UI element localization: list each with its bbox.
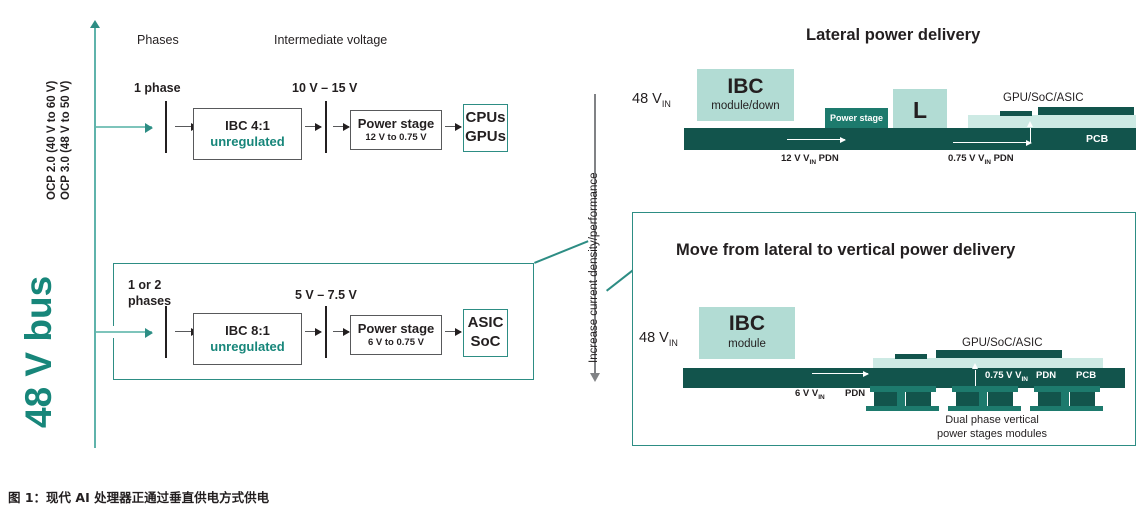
vertical-pdn-arrow-left: [812, 373, 868, 374]
vertical-pdn-left-label: 6 V VIN: [795, 389, 825, 401]
vertical-pdn-left-v: 6 V V: [795, 388, 818, 399]
vertical-pcb-bar: [683, 368, 1125, 388]
row1-phase-label: 1 phase: [134, 81, 181, 95]
row2-power-stage-box[interactable]: Power stage 6 V to 0.75 V: [350, 315, 442, 355]
lateral-pdn-left-tail: PDN: [816, 153, 839, 164]
lateral-ibc-title: IBC: [697, 76, 794, 97]
vertical-vin-sub: IN: [669, 338, 678, 348]
row1-power-stage-sub: 12 V to 0.75 V: [365, 132, 426, 144]
vertical-pdn-left-sub: IN: [818, 394, 825, 401]
vertical-modules-caption-line1: Dual phase vertical: [922, 414, 1062, 428]
vertical-modules-caption-line2: power stages modules: [922, 428, 1062, 442]
header-intermediate-voltage: Intermediate voltage: [274, 33, 387, 47]
vertical-ibc-sub: module: [699, 339, 795, 351]
vertical-vin-label: 48 VIN: [639, 330, 678, 348]
bus-label: 48 V bus: [18, 276, 61, 428]
density-arrow-head-icon: [590, 373, 600, 382]
vertical-ibc-title: IBC: [699, 313, 795, 334]
lateral-vin-sub: IN: [662, 99, 671, 109]
row2-ibc-box[interactable]: IBC 8:1 unregulated: [193, 313, 302, 365]
lateral-pdn-arrow-up: [1030, 128, 1031, 143]
row1-arrow-to-output: [445, 126, 461, 127]
vertical-die-large: [936, 350, 1062, 358]
lateral-vin-value: 48 V: [632, 91, 662, 107]
row1-power-stage-box[interactable]: Power stage 12 V to 0.75 V: [350, 110, 442, 150]
vertical-vin-value: 48 V: [639, 330, 669, 346]
row1-ibc-state: unregulated: [210, 134, 284, 150]
row1-ibc-title: IBC 4:1: [225, 118, 270, 134]
row2-arrow-from-ibc: [305, 331, 321, 332]
row1-intermediate-tick: [325, 101, 327, 153]
row1-output-line1: CPUs: [465, 109, 505, 128]
row2-output-line1: ASIC: [468, 314, 504, 333]
lateral-pcb-label: PCB: [1086, 133, 1108, 145]
row1-output-box[interactable]: CPUs GPUs: [463, 104, 508, 152]
row1-arrow-to-ps: [333, 126, 349, 127]
lateral-panel-title: Lateral power delivery: [806, 26, 980, 45]
row2-output-line2: SoC: [471, 333, 501, 352]
vertical-load-label: GPU/SoC/ASIC: [962, 337, 1043, 350]
bus-axis-line: [94, 28, 96, 448]
density-arrow-label: Increase current density/performance: [588, 173, 601, 363]
lateral-inductor-label: L: [893, 99, 947, 122]
lateral-power-stage-label: Power stage: [825, 113, 888, 123]
lateral-ibc-sub: module/down: [697, 101, 794, 113]
ocp-20-label: OCP 2.0 (40 V to 60 V): [46, 81, 59, 200]
row2-bus-arrow: [96, 331, 152, 333]
row1-arrow-from-ibc: [305, 126, 321, 127]
ocp-30-label: OCP 3.0 (48 V to 50 V): [60, 81, 73, 200]
row2-power-stage-title: Power stage: [358, 321, 435, 337]
row1-power-stage-title: Power stage: [358, 116, 435, 132]
row2-power-stage-sub: 6 V to 0.75 V: [368, 337, 424, 349]
row2-intermediate-voltage: 5 V – 7.5 V: [295, 288, 357, 302]
row2-phase-label-1: 1 or 2: [128, 278, 161, 292]
row1-output-line2: GPUs: [465, 128, 506, 147]
lateral-die-small: [1000, 111, 1032, 116]
row2-ibc-title: IBC 8:1: [225, 323, 270, 339]
row2-phase-tick: [165, 306, 167, 358]
row1-phase-tick: [165, 101, 167, 153]
lateral-vin-label: 48 VIN: [632, 91, 671, 109]
connector-upper-diagonal: [534, 240, 588, 263]
lateral-pdn-arrow-right: [953, 142, 1031, 143]
lateral-pdn-right-v: 0.75 V V: [948, 153, 984, 164]
lateral-load-label: GPU/SoC/ASIC: [1003, 92, 1084, 105]
header-phases: Phases: [137, 33, 179, 47]
lateral-pdn-arrow-left: [787, 139, 845, 140]
row2-arrow-to-output: [445, 331, 461, 332]
row2-output-box[interactable]: ASIC SoC: [463, 309, 508, 357]
lateral-substrate: [968, 115, 1136, 129]
vertical-pdn-label: PDN: [1036, 371, 1056, 382]
vertical-panel-title: Move from lateral to vertical power deli…: [676, 241, 1015, 260]
lateral-die-large: [1038, 107, 1134, 115]
vertical-pdn-left-tail: PDN: [845, 389, 865, 400]
row2-ibc-state: unregulated: [210, 339, 284, 355]
lateral-pdn-right-label: 0.75 V VIN PDN: [948, 154, 1014, 166]
row1-intermediate-voltage: 10 V – 15 V: [292, 81, 357, 95]
vertical-rail-arrow-up: [975, 370, 976, 386]
figure-caption: 图 1：现代 AI 处理器正通过垂直供电方式供电: [8, 487, 269, 506]
lateral-pdn-right-tail: PDN: [991, 153, 1014, 164]
vertical-die-small: [895, 354, 927, 359]
lateral-pdn-left-label: 12 V VIN PDN: [781, 154, 839, 166]
bus-axis-arrow-icon: [90, 20, 100, 28]
vertical-rail-voltage-sub: IN: [1021, 376, 1028, 383]
vertical-pcb-label: PCB: [1076, 371, 1096, 382]
vertical-rail-voltage-label: 0.75 V VIN: [985, 371, 1028, 383]
row2-arrow-to-ps: [333, 331, 349, 332]
row1-ibc-box[interactable]: IBC 4:1 unregulated: [193, 108, 302, 160]
lateral-pcb-bar: [684, 128, 1136, 150]
row1-bus-arrow: [96, 126, 152, 128]
vertical-rail-voltage-value: 0.75 V V: [985, 370, 1021, 381]
figure-root: OCP 2.0 (40 V to 60 V) OCP 3.0 (48 V to …: [0, 0, 1139, 513]
row2-intermediate-tick: [325, 306, 327, 358]
lateral-pdn-left-v: 12 V V: [781, 153, 810, 164]
